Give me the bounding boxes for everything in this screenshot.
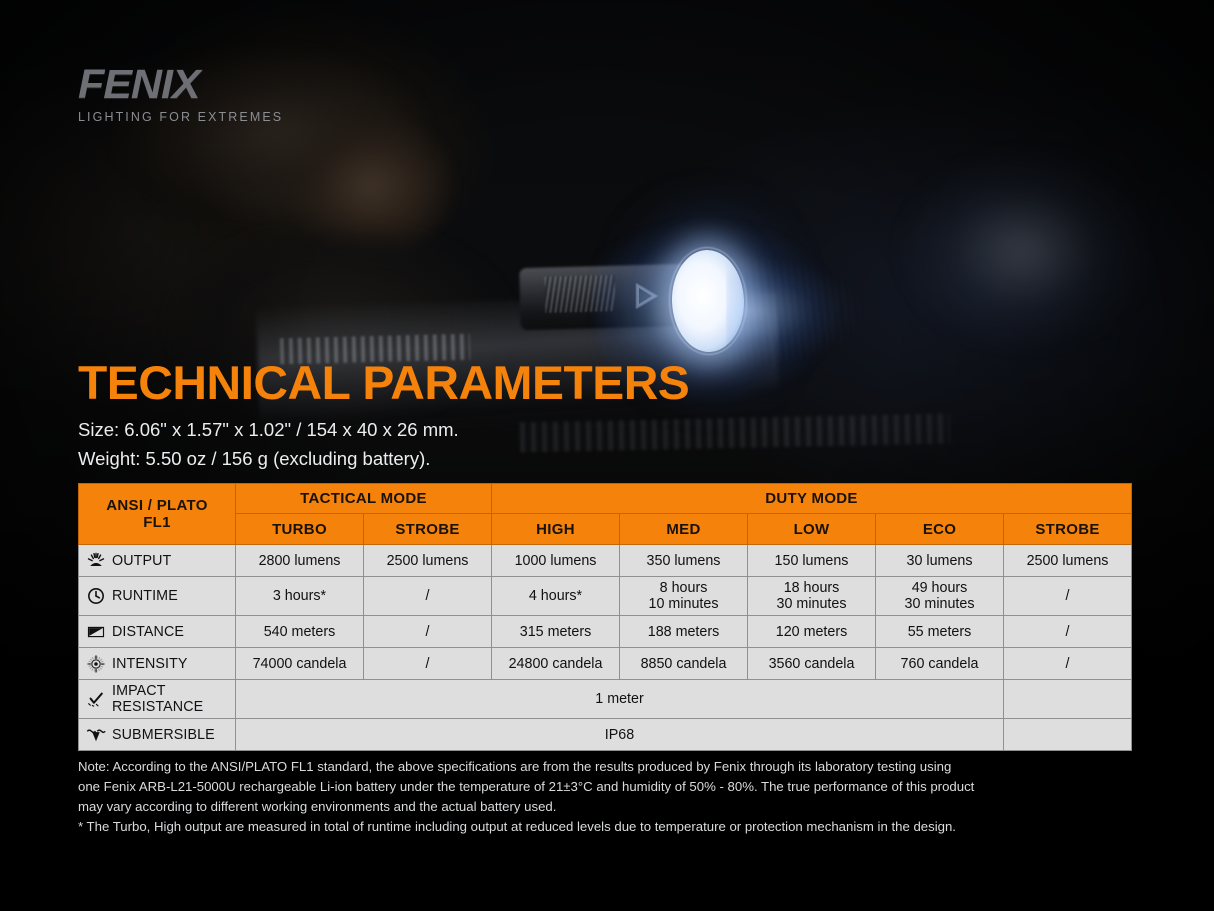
row-label-output-text: OUTPUT: [112, 553, 171, 569]
clock-icon: [85, 586, 107, 606]
cell-output-high: 1000 lumens: [492, 545, 620, 577]
cell-submersible-value: IP68: [236, 719, 1004, 751]
header-ansi-plato-line2: FL1: [81, 514, 233, 531]
header-ansi-plato: ANSI / PLATO FL1: [79, 484, 236, 545]
cell-output-turbo: 2800 lumens: [236, 545, 364, 577]
header-mode-strobe-duty: STROBE: [1004, 514, 1132, 545]
row-label-intensity-text: INTENSITY: [112, 656, 188, 672]
header-mode-med: MED: [620, 514, 748, 545]
header-mode-low: LOW: [748, 514, 876, 545]
size-spec-line: Size: 6.06" x 1.57" x 1.02" / 154 x 40 x…: [78, 418, 459, 441]
cell-runtime-low-line2: 30 minutes: [750, 596, 873, 612]
brand-name: FENIX: [78, 64, 293, 105]
table-row-runtime: RUNTIME 3 hours* / 4 hours* 8 hours 10 m…: [79, 577, 1132, 616]
header-mode-eco: ECO: [876, 514, 1004, 545]
cell-runtime-eco: 49 hours 30 minutes: [876, 577, 1004, 616]
row-label-distance: DISTANCE: [79, 616, 236, 648]
cell-intensity-turbo: 74000 candela: [236, 648, 364, 680]
table-header: ANSI / PLATO FL1 TACTICAL MODE DUTY MODE…: [79, 484, 1132, 545]
impact-label-line2: RESISTANCE: [112, 699, 203, 715]
cell-runtime-med-line1: 8 hours: [622, 580, 745, 596]
table-row-impact-resistance: IMPACTRESISTANCE 1 meter: [79, 680, 1132, 719]
cell-runtime-eco-line2: 30 minutes: [878, 596, 1001, 612]
row-label-impact-resistance: IMPACTRESISTANCE: [79, 680, 236, 719]
cell-output-strobe-duty: 2500 lumens: [1004, 545, 1132, 577]
impact-drop-icon: [85, 689, 107, 709]
cell-intensity-strobe-duty: /: [1004, 648, 1132, 680]
row-label-impact-resistance-text: IMPACTRESISTANCE: [112, 683, 203, 715]
footnote-line-1: Note: According to the ANSI/PLATO FL1 st…: [78, 757, 1140, 777]
header-mode-strobe-tactical: STROBE: [364, 514, 492, 545]
row-label-submersible: SUBMERSIBLE: [79, 719, 236, 751]
impact-label-line1: IMPACT: [112, 683, 166, 699]
cell-distance-med: 188 meters: [620, 616, 748, 648]
header-ansi-plato-line1: ANSI / PLATO: [81, 497, 233, 514]
footnote-block: Note: According to the ANSI/PLATO FL1 st…: [78, 757, 1140, 837]
cell-runtime-eco-line1: 49 hours: [878, 580, 1001, 596]
intensity-icon: [85, 654, 107, 674]
water-waves-icon: [85, 725, 107, 745]
table-row-output: OUTPUT 2800 lumens 2500 lumens 1000 lume…: [79, 545, 1132, 577]
footnote-line-4: * The Turbo, High output are measured in…: [78, 817, 1140, 837]
row-label-runtime-text: RUNTIME: [112, 588, 178, 604]
cell-distance-turbo: 540 meters: [236, 616, 364, 648]
header-group-duty-mode: DUTY MODE: [492, 484, 1132, 514]
cell-intensity-high: 24800 candela: [492, 648, 620, 680]
cell-output-strobe-tactical: 2500 lumens: [364, 545, 492, 577]
cell-runtime-low-line1: 18 hours: [750, 580, 873, 596]
cell-submersible-trailing: [1004, 719, 1132, 751]
cell-runtime-strobe-duty: /: [1004, 577, 1132, 616]
row-label-submersible-text: SUBMERSIBLE: [112, 727, 215, 743]
sunburst-icon: [85, 551, 107, 571]
cell-runtime-high: 4 hours*: [492, 577, 620, 616]
cell-intensity-strobe-tactical: /: [364, 648, 492, 680]
header-group-tactical-mode: TACTICAL MODE: [236, 484, 492, 514]
cell-runtime-med-line2: 10 minutes: [622, 596, 745, 612]
cell-output-eco: 30 lumens: [876, 545, 1004, 577]
table-mode-row: TURBO STROBE HIGH MED LOW ECO STROBE: [79, 514, 1132, 545]
row-label-intensity: INTENSITY: [79, 648, 236, 680]
page-title: TECHNICAL PARAMETERS: [78, 358, 689, 407]
cell-intensity-med: 8850 candela: [620, 648, 748, 680]
table-row-intensity: INTENSITY 74000 candela / 24800 candela …: [79, 648, 1132, 680]
table-body: OUTPUT 2800 lumens 2500 lumens 1000 lume…: [79, 545, 1132, 751]
brand-tagline: LIGHTING FOR EXTREMES: [78, 110, 283, 124]
footnote-line-3: may vary according to different working …: [78, 797, 1140, 817]
cell-intensity-eco: 760 candela: [876, 648, 1004, 680]
cell-distance-eco: 55 meters: [876, 616, 1004, 648]
weight-spec-line: Weight: 5.50 oz / 156 g (excluding batte…: [78, 447, 430, 470]
cell-distance-strobe-duty: /: [1004, 616, 1132, 648]
row-label-distance-text: DISTANCE: [112, 624, 184, 640]
cell-distance-high: 315 meters: [492, 616, 620, 648]
cell-distance-low: 120 meters: [748, 616, 876, 648]
table-row-distance: DISTANCE 540 meters / 315 meters 188 met…: [79, 616, 1132, 648]
beam-distance-icon: [85, 622, 107, 642]
header-mode-high: HIGH: [492, 514, 620, 545]
cell-distance-strobe-tactical: /: [364, 616, 492, 648]
cell-output-low: 150 lumens: [748, 545, 876, 577]
cell-output-med: 350 lumens: [620, 545, 748, 577]
cell-impact-resistance-trailing: [1004, 680, 1132, 719]
cell-intensity-low: 3560 candela: [748, 648, 876, 680]
cell-runtime-strobe-tactical: /: [364, 577, 492, 616]
cell-runtime-turbo: 3 hours*: [236, 577, 364, 616]
row-label-output: OUTPUT: [79, 545, 236, 577]
cell-runtime-med: 8 hours 10 minutes: [620, 577, 748, 616]
table-group-row: ANSI / PLATO FL1 TACTICAL MODE DUTY MODE: [79, 484, 1132, 514]
brand-logo: FENIX LIGHTING FOR EXTREMES: [78, 64, 283, 124]
cell-runtime-low: 18 hours 30 minutes: [748, 577, 876, 616]
technical-parameters-table: ANSI / PLATO FL1 TACTICAL MODE DUTY MODE…: [78, 483, 1132, 751]
row-label-runtime: RUNTIME: [79, 577, 236, 616]
footnote-line-2: one Fenix ARB-L21-5000U rechargeable Li-…: [78, 777, 1140, 797]
cell-impact-resistance-value: 1 meter: [236, 680, 1004, 719]
header-mode-turbo: TURBO: [236, 514, 364, 545]
table-row-submersible: SUBMERSIBLE IP68: [79, 719, 1132, 751]
